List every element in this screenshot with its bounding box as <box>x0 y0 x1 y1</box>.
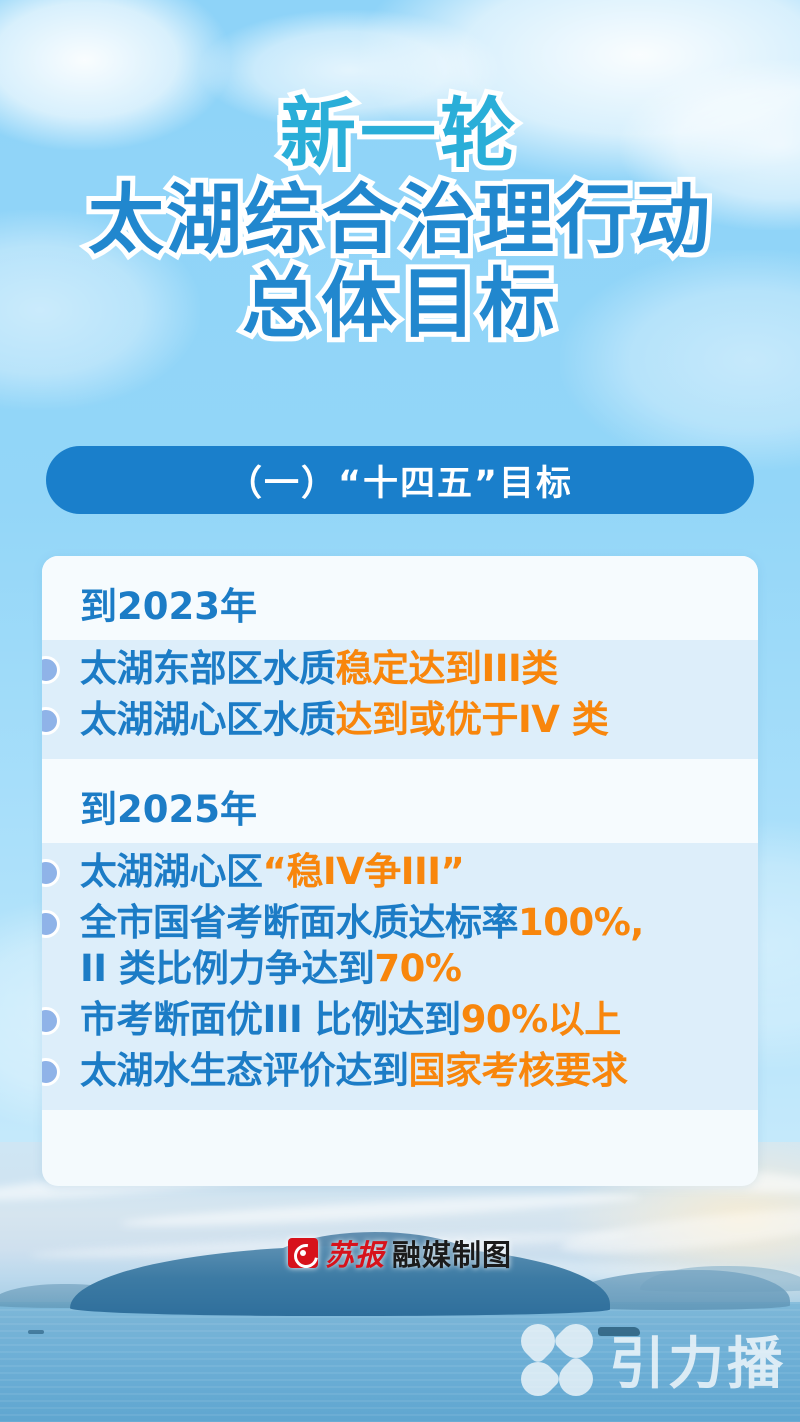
list-item-text: 全市国省考断面水质达标率100%,II 类比例力争达到70% <box>80 900 748 993</box>
list-item: 太湖湖心区“稳IV争III” <box>42 847 758 898</box>
list-item-highlight: 100%, <box>518 901 644 944</box>
list-item-highlight: 达到或优于IV 类 <box>336 698 609 741</box>
list-item-normal: 太湖水生态评价达到 <box>80 1049 409 1092</box>
list-item-text: 太湖湖心区水质达到或优于IV 类 <box>80 697 748 744</box>
watermark-label: 引力播 <box>609 1319 786 1400</box>
list-item-text: 太湖湖心区“稳IV争III” <box>80 849 748 896</box>
suzhou-daily-logo-icon <box>288 1238 318 1268</box>
photo-boat-small <box>28 1330 44 1334</box>
flower-petal <box>514 1354 562 1402</box>
bullet-dot-icon <box>42 910 60 938</box>
list-item: 市考断面优III 比例达到90%以上 <box>42 995 758 1046</box>
list-item-normal: 太湖东部区水质 <box>80 647 336 690</box>
group-heading-2023: 到2023年 <box>42 556 758 640</box>
list-item-highlight: 90%以上 <box>461 998 621 1041</box>
bullet-dot-icon <box>42 656 60 684</box>
bullet-dot-icon <box>42 1007 60 1035</box>
group-body-2025: 太湖湖心区“稳IV争III” 全市国省考断面水质达标率100%,II 类比例力争… <box>42 843 758 1110</box>
list-item-normal: 太湖湖心区水质 <box>80 698 336 741</box>
publisher-brand-name: 苏报 <box>325 1232 385 1274</box>
bullet-dot-icon <box>42 707 60 735</box>
section-banner-label: （一）“十四五”目标 <box>227 455 573 506</box>
list-item: 太湖水生态评价达到国家考核要求 <box>42 1046 758 1097</box>
list-item-highlight: “稳IV争III” <box>263 850 465 893</box>
section-banner: （一）“十四五”目标 <box>46 446 754 514</box>
four-petal-flower-icon <box>519 1322 595 1398</box>
list-item-normal: 全市国省考断面水质达标率 <box>80 901 518 944</box>
list-item-highlight-line2: 70% <box>374 947 461 990</box>
watermark: 引力播 <box>519 1319 786 1400</box>
bullet-dot-icon <box>42 859 60 887</box>
list-item: 太湖湖心区水质达到或优于IV 类 <box>42 695 758 746</box>
publisher-credit: 苏报 融媒制图 <box>0 1232 800 1274</box>
group-heading-label: 到2025年 <box>80 779 758 833</box>
list-item-text: 太湖水生态评价达到国家考核要求 <box>80 1048 748 1095</box>
list-item-text: 市考断面优III 比例达到90%以上 <box>80 997 748 1044</box>
group-body-2023: 太湖东部区水质稳定达到III类 太湖湖心区水质达到或优于IV 类 <box>42 640 758 759</box>
list-item: 全市国省考断面水质达标率100%,II 类比例力争达到70% <box>42 898 758 995</box>
list-item-highlight: 稳定达到III类 <box>336 647 558 690</box>
title-line-3: 总体目标 <box>0 266 800 342</box>
poster-canvas: 新一轮 太湖综合治理行动 总体目标 （一）“十四五”目标 到2023年 太湖东部… <box>0 0 800 1422</box>
list-item-normal-line2: II 类比例力争达到 <box>80 947 374 990</box>
list-item-normal: 太湖湖心区 <box>80 850 263 893</box>
title-line-1: 新一轮 <box>0 96 800 172</box>
publisher-credit-label: 融媒制图 <box>392 1232 512 1274</box>
goals-card: 到2023年 太湖东部区水质稳定达到III类 太湖湖心区水质达到或优于IV 类 … <box>42 556 758 1186</box>
bullet-dot-icon <box>42 1058 60 1086</box>
list-item-highlight: 国家考核要求 <box>409 1049 628 1092</box>
page-title: 新一轮 太湖综合治理行动 总体目标 <box>0 96 800 342</box>
list-item-normal: 市考断面优III 比例达到 <box>80 998 461 1041</box>
title-line-2: 太湖综合治理行动 <box>0 182 800 258</box>
list-item: 太湖东部区水质稳定达到III类 <box>42 644 758 695</box>
list-item-text: 太湖东部区水质稳定达到III类 <box>80 646 748 693</box>
group-heading-label: 到2023年 <box>80 576 758 630</box>
group-heading-2025: 到2025年 <box>42 759 758 843</box>
